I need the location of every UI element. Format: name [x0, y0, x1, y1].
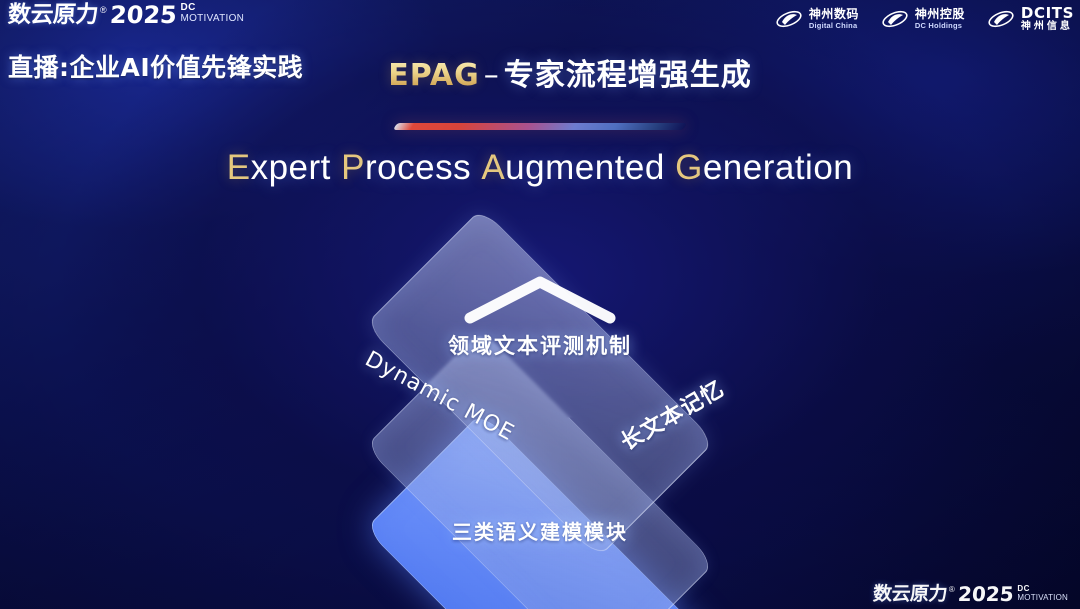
title-dash: – — [480, 58, 504, 93]
partner-logo-bar: 神州数码 Digital China 神州控股 DC Holdings — [775, 6, 1074, 32]
partner-name-en: DC Holdings — [915, 22, 965, 30]
subtitle-english: Expert Process Augmented Generation — [0, 148, 1080, 188]
partner-name-en: DCITS — [1021, 6, 1074, 21]
watermark-year: 2025 — [957, 584, 1014, 605]
partner-logo-dc-holdings: 神州控股 DC Holdings — [881, 8, 965, 30]
subtitle-rest-generation: eneration — [703, 148, 853, 187]
watermark-dc-line1: DC — [1017, 585, 1068, 593]
chevron-up-icon — [460, 272, 620, 333]
title-chinese: 专家流程增强生成 — [504, 58, 752, 93]
partner-name-cn: 神州控股 — [915, 8, 965, 20]
watermark-registered-mark: ® — [949, 585, 955, 595]
brand-year: 2025 — [109, 2, 178, 28]
watermark-dc-line2: MOTIVATION — [1017, 593, 1068, 602]
subtitle-cap-a: A — [481, 148, 505, 187]
subtitle-rest-process: rocess — [365, 148, 471, 187]
isometric-layer-stack: 领域文本评测机制 Dynamic MOE 长文本记忆 三类语义建模模块 — [305, 230, 775, 570]
brand-name-cn: 数云原力 — [7, 2, 99, 28]
brand-dc-motivation: DC MOTIVATION — [180, 3, 244, 24]
partner-text: 神州数码 Digital China — [809, 8, 859, 30]
subtitle-cap-e: E — [227, 148, 251, 187]
title-acronym: EPAG — [388, 58, 480, 93]
partner-text: DCITS 神州信息 — [1021, 6, 1074, 32]
brand-dc-line1: DC — [180, 3, 244, 13]
partner-logo-dcits: DCITS 神州信息 — [987, 6, 1074, 32]
subtitle-cap-p: P — [341, 148, 365, 187]
brand-dc-line2: MOTIVATION — [180, 13, 244, 24]
brand-lockup: 数云原力 ® 2025 DC MOTIVATION — [8, 2, 244, 28]
subtitle-rest-expert: xpert — [251, 148, 331, 187]
swoosh-icon — [881, 8, 909, 30]
partner-text: 神州控股 DC Holdings — [915, 8, 965, 30]
watermark-brand-lockup: 数云原力 ® 2025 DC MOTIVATION — [873, 584, 1068, 605]
brand-registered-mark: ® — [100, 4, 107, 16]
swoosh-icon — [987, 8, 1015, 30]
gradient-divider — [393, 123, 687, 130]
subtitle-rest-augmented: ugmented — [505, 148, 665, 187]
partner-logo-digital-china: 神州数码 Digital China — [775, 8, 859, 30]
watermark-dc-motivation: DC MOTIVATION — [1017, 585, 1068, 602]
partner-name-cn: 神州数码 — [809, 8, 859, 20]
live-headline: 直播:企业AI价值先锋实践 — [8, 48, 303, 84]
slide-canvas: 数云原力 ® 2025 DC MOTIVATION 直播:企业AI价值先锋实践 … — [0, 0, 1080, 609]
partner-name-en: Digital China — [809, 22, 859, 30]
swoosh-icon — [775, 8, 803, 30]
watermark-name-cn: 数云原力 — [872, 584, 947, 605]
partner-name-cn: 神州信息 — [1021, 22, 1074, 32]
subtitle-cap-g: G — [675, 148, 703, 187]
